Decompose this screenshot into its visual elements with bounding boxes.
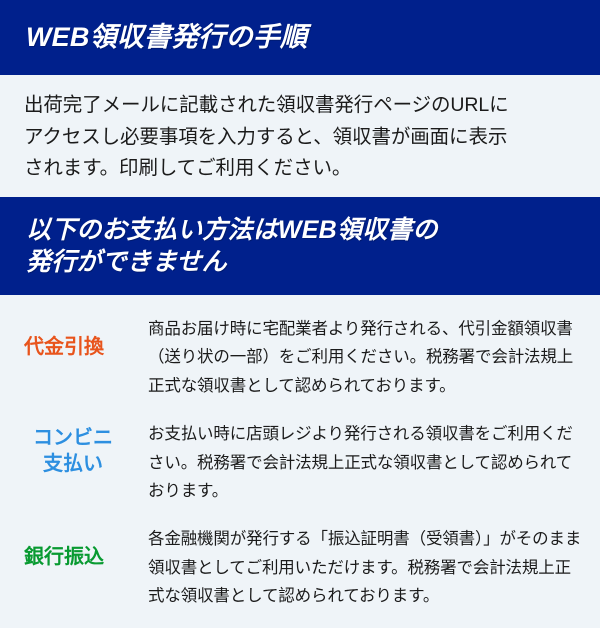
receipt-info-page: WEB領収書発行の手順 出荷完了メールに記載された領収書発行ページのURLに ア… bbox=[0, 0, 600, 600]
intro-paragraph: 出荷完了メールに記載された領収書発行ページのURLに アクセスし必要事項を入力す… bbox=[24, 90, 576, 185]
payment-method-row-bank-transfer: 銀行振込 各金融機関が発行する「振込証明書（受領書）」がそのまま 領収書としてご… bbox=[0, 523, 600, 610]
payment-method-description-convenience-store: お支払い時に店頭レジより発行される領収書をご利用くだ さい。税務署で会計法規上正… bbox=[148, 418, 584, 505]
banner-1-title: WEB領収書発行の手順 bbox=[26, 20, 307, 54]
banner-2-title: 以下のお支払い方法はWEB領収書の 発行ができません bbox=[26, 214, 438, 279]
intro-section: 出荷完了メールに記載された領収書発行ページのURLに アクセスし必要事項を入力す… bbox=[0, 75, 600, 197]
payment-method-description-bank-transfer: 各金融機関が発行する「振込証明書（受領書）」がそのまま 領収書としてご利用いただ… bbox=[148, 523, 584, 610]
payment-method-row-cash-on-delivery: 代金引換 商品お届け時に宅配業者より発行される、代引金額領収書 （送り状の一部）… bbox=[0, 313, 600, 400]
payment-method-label-convenience-store: コンビニ 支払い bbox=[0, 418, 148, 477]
payment-method-row-convenience-store: コンビニ 支払い お支払い時に店頭レジより発行される領収書をご利用くだ さい。税… bbox=[0, 418, 600, 505]
payment-method-label-cash-on-delivery: 代金引換 bbox=[0, 313, 148, 361]
payment-methods-list: 代金引換 商品お届け時に宅配業者より発行される、代引金額領収書 （送り状の一部）… bbox=[0, 295, 600, 628]
payment-method-label-bank-transfer: 銀行振込 bbox=[0, 523, 148, 571]
banner-web-receipt-steps: WEB領収書発行の手順 bbox=[0, 0, 600, 75]
payment-method-description-cash-on-delivery: 商品お届け時に宅配業者より発行される、代引金額領収書 （送り状の一部）をご利用く… bbox=[148, 313, 584, 400]
banner-not-available-methods: 以下のお支払い方法はWEB領収書の 発行ができません bbox=[0, 197, 600, 295]
